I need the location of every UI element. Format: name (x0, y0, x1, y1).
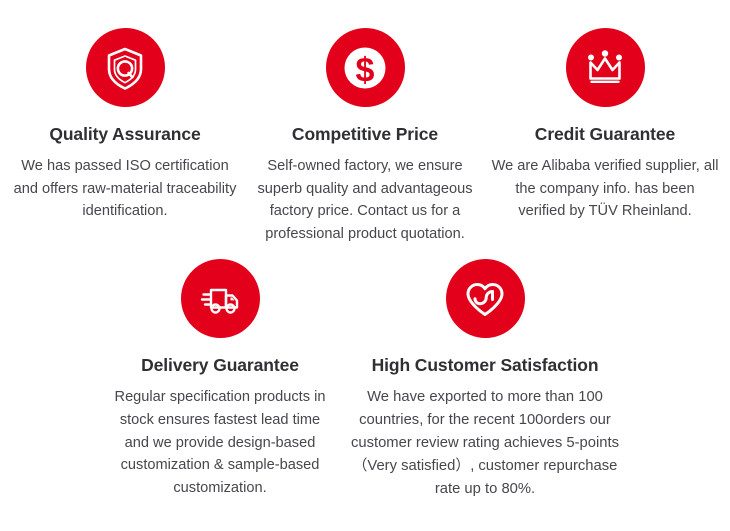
features-section: Quality Assurance We has passed ISO cert… (0, 0, 730, 531)
dollar-coin-icon: $ (326, 28, 405, 107)
feature-body: We are Alibaba verified supplier, all th… (491, 155, 719, 223)
features-row-bottom: Delivery Guarantee Regular specification… (0, 245, 730, 501)
feature-title: Credit Guarantee (535, 124, 675, 145)
features-row-top: Quality Assurance We has passed ISO cert… (0, 0, 730, 245)
heart-icon (446, 259, 525, 338)
shield-quality-icon (86, 28, 165, 107)
feature-title: Competitive Price (292, 124, 438, 145)
feature-body: We have exported to more than 100 countr… (346, 386, 624, 501)
feature-title: Quality Assurance (49, 124, 200, 145)
svg-text:$: $ (356, 51, 375, 89)
feature-body: Self-owned factory, we ensure superb qua… (251, 155, 479, 245)
delivery-truck-icon (181, 259, 260, 338)
feature-title: High Customer Satisfaction (372, 355, 599, 376)
feature-card-competitive-price: $ Competitive Price Self-owned factory, … (245, 28, 485, 245)
feature-title: Delivery Guarantee (141, 355, 299, 376)
feature-card-delivery-guarantee: Delivery Guarantee Regular specification… (100, 259, 340, 499)
feature-card-high-customer-satisfaction: High Customer Satisfaction We have expor… (340, 259, 630, 501)
feature-body: Regular specification products in stock … (106, 386, 334, 499)
feature-body: We has passed ISO certification and offe… (11, 155, 239, 223)
feature-card-quality-assurance: Quality Assurance We has passed ISO cert… (5, 28, 245, 223)
feature-card-credit-guarantee: Credit Guarantee We are Alibaba verified… (485, 28, 725, 223)
crown-icon (566, 28, 645, 107)
